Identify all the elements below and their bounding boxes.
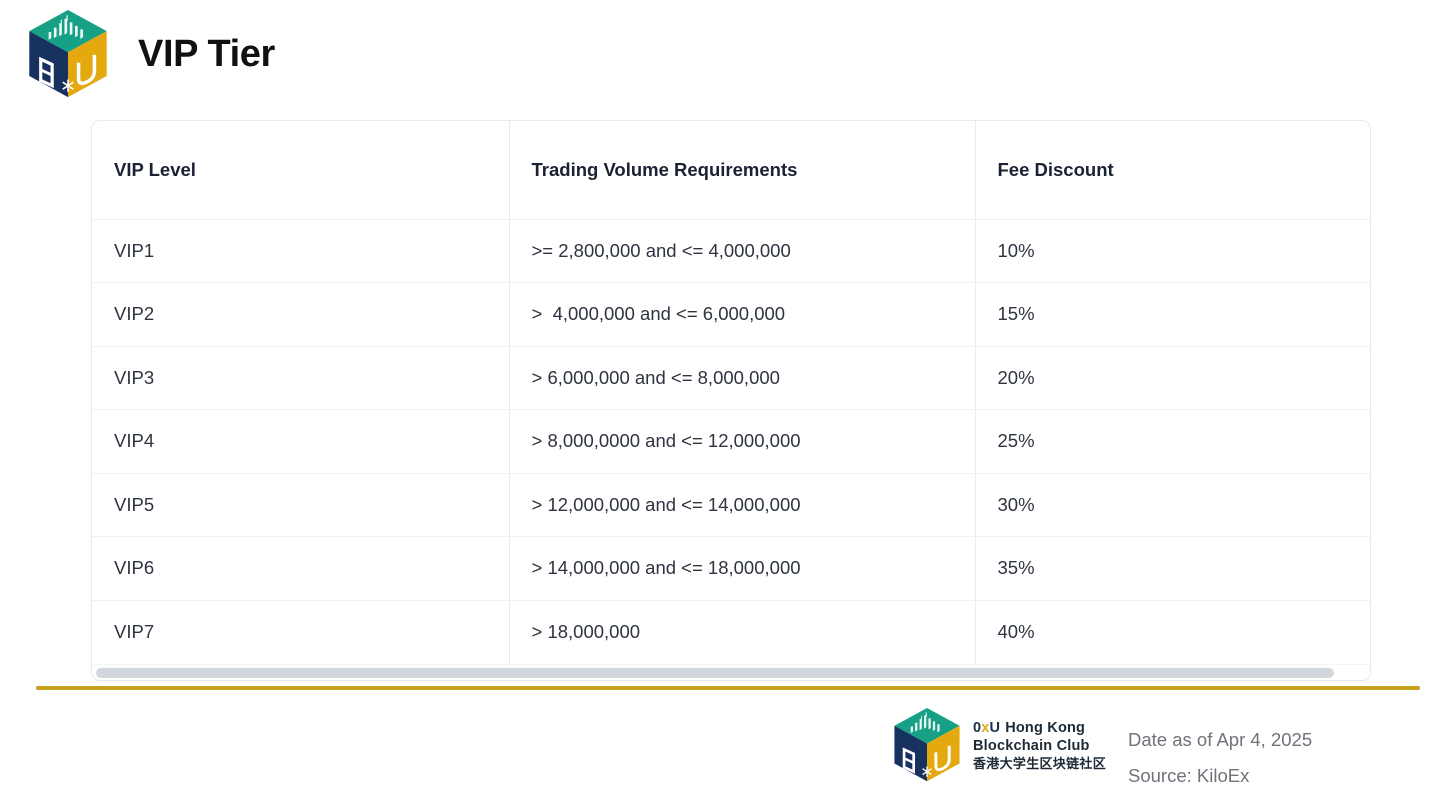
- footer-brand-line1: 0xUHong Kong: [973, 720, 1106, 738]
- cell-vip-level: VIP5: [92, 473, 509, 537]
- cell-discount: 35%: [975, 537, 1371, 601]
- table-body: VIP1 >= 2,800,000 and <= 4,000,000 10% V…: [92, 219, 1371, 664]
- slide-root: VIP Tier VIP Level Trading Volume Requir…: [0, 0, 1440, 802]
- footer-brand-x: x: [981, 720, 989, 736]
- table-row: VIP3 > 6,000,000 and <= 8,000,000 20%: [92, 346, 1371, 410]
- footer-divider: [36, 686, 1420, 690]
- column-header-fee-discount: Fee Discount: [975, 121, 1371, 219]
- cell-volume: > 18,000,000: [509, 600, 975, 664]
- horizontal-scrollbar-thumb[interactable]: [96, 668, 1334, 678]
- cell-discount: 40%: [975, 600, 1371, 664]
- cell-volume: > 8,000,0000 and <= 12,000,000: [509, 410, 975, 474]
- table-header-row: VIP Level Trading Volume Requirements Fe…: [92, 121, 1371, 219]
- cell-vip-level: VIP2: [92, 283, 509, 347]
- column-header-trading-volume: Trading Volume Requirements: [509, 121, 975, 219]
- cell-discount: 30%: [975, 473, 1371, 537]
- footer-brand-line3-chinese: 香港大学生区块链社区: [973, 756, 1106, 772]
- table-header: VIP Level Trading Volume Requirements Fe…: [92, 121, 1371, 219]
- table-row: VIP6 > 14,000,000 and <= 18,000,000 35%: [92, 537, 1371, 601]
- footer-brand: 0xUHong Kong Blockchain Club 香港大学生区块链社区: [890, 706, 1106, 784]
- table-row: VIP5 > 12,000,000 and <= 14,000,000 30%: [92, 473, 1371, 537]
- footer-brand-hongkong: Hong Kong: [1005, 720, 1085, 736]
- cell-discount: 15%: [975, 283, 1371, 347]
- cell-vip-level: VIP1: [92, 219, 509, 283]
- footer-date: Date as of Apr 4, 2025: [1128, 722, 1312, 758]
- cell-vip-level: VIP7: [92, 600, 509, 664]
- table-row: VIP4 > 8,000,0000 and <= 12,000,000 25%: [92, 410, 1371, 474]
- vip-tier-table-card: VIP Level Trading Volume Requirements Fe…: [91, 120, 1371, 681]
- footer-brand-line2: Blockchain Club: [973, 738, 1106, 756]
- footer-meta: Date as of Apr 4, 2025 Source: KiloEx: [1128, 706, 1312, 794]
- cell-discount: 25%: [975, 410, 1371, 474]
- footer-source: Source: KiloEx: [1128, 758, 1312, 794]
- vip-tier-table: VIP Level Trading Volume Requirements Fe…: [92, 121, 1371, 664]
- cell-vip-level: VIP3: [92, 346, 509, 410]
- slide-header: VIP Tier: [24, 8, 275, 100]
- cell-volume: > 4,000,000 and <= 6,000,000: [509, 283, 975, 347]
- cell-discount: 10%: [975, 219, 1371, 283]
- table-row: VIP2 > 4,000,000 and <= 6,000,000 15%: [92, 283, 1371, 347]
- 0xu-cube-logo-icon: [890, 706, 964, 784]
- table-row: VIP1 >= 2,800,000 and <= 4,000,000 10%: [92, 219, 1371, 283]
- footer-brand-u: U: [990, 720, 1001, 736]
- 0xu-cube-logo-icon: [24, 8, 112, 100]
- page-title: VIP Tier: [138, 35, 275, 73]
- slide-footer: 0xUHong Kong Blockchain Club 香港大学生区块链社区 …: [890, 706, 1312, 794]
- cell-discount: 20%: [975, 346, 1371, 410]
- cell-volume: >= 2,800,000 and <= 4,000,000: [509, 219, 975, 283]
- cell-volume: > 12,000,000 and <= 14,000,000: [509, 473, 975, 537]
- column-header-vip-level: VIP Level: [92, 121, 509, 219]
- table-row: VIP7 > 18,000,000 40%: [92, 600, 1371, 664]
- cell-vip-level: VIP4: [92, 410, 509, 474]
- footer-brand-text: 0xUHong Kong Blockchain Club 香港大学生区块链社区: [973, 718, 1106, 771]
- horizontal-scrollbar-track[interactable]: [92, 664, 1370, 680]
- cell-volume: > 6,000,000 and <= 8,000,000: [509, 346, 975, 410]
- cell-volume: > 14,000,000 and <= 18,000,000: [509, 537, 975, 601]
- cell-vip-level: VIP6: [92, 537, 509, 601]
